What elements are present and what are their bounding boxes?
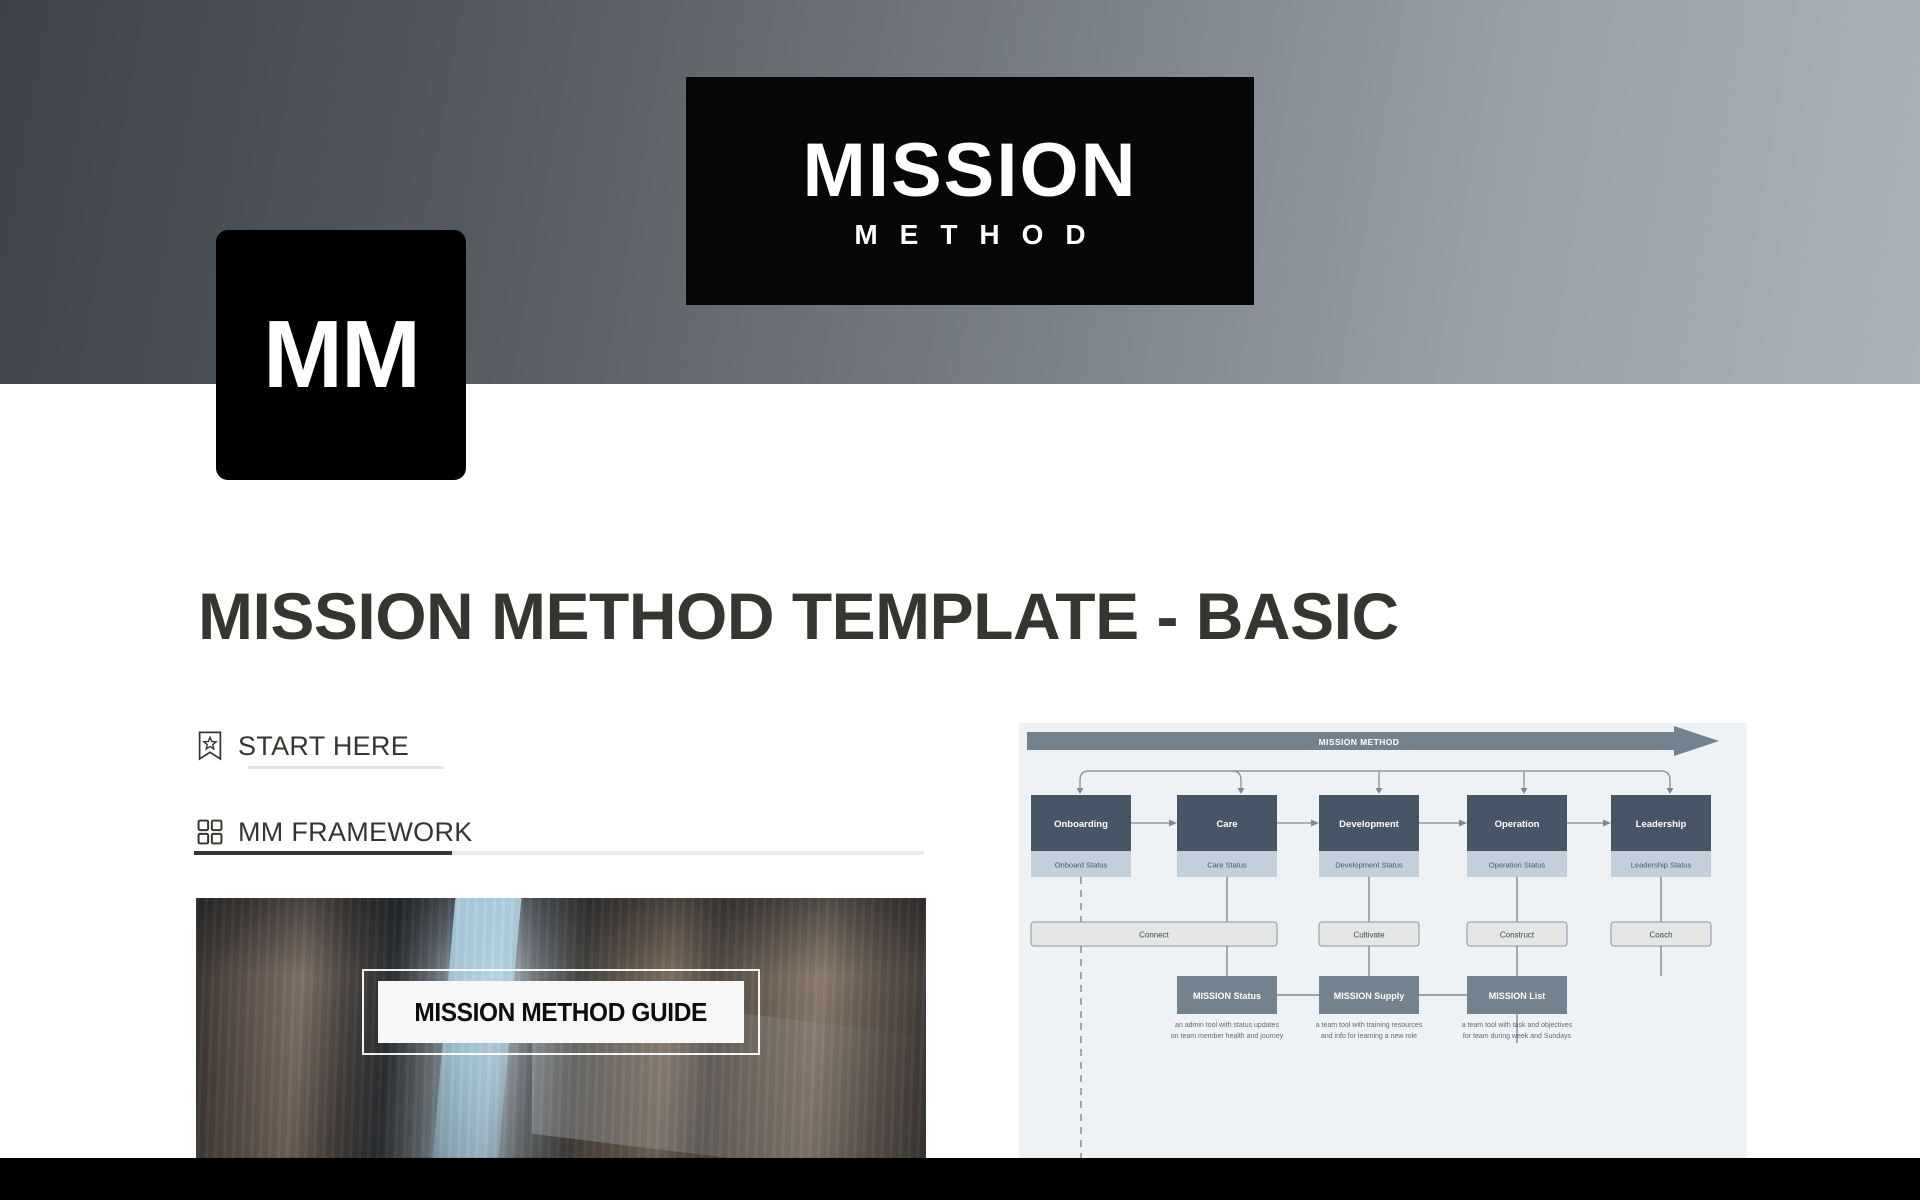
guide-caption-plate: MISSION METHOD GUIDE xyxy=(378,981,744,1043)
page-title[interactable]: MISSION METHOD TEMPLATE - BASIC xyxy=(198,578,1399,654)
stage-label: Development xyxy=(1339,819,1399,830)
start-here-underline xyxy=(248,766,444,769)
page-icon-text: MM xyxy=(263,300,419,410)
mission-method-logo: MISSION METHOD xyxy=(686,77,1254,305)
active-tab-indicator xyxy=(194,851,452,855)
logo-sub-text: METHOD xyxy=(832,221,1107,249)
tool-label: MISSION Supply xyxy=(1334,991,1405,1001)
guide-caption-text: MISSION METHOD GUIDE xyxy=(415,997,708,1028)
mission-method-banner: MISSION METHOD xyxy=(1027,726,1719,756)
mission-method-guide-card[interactable]: MISSION METHOD GUIDE xyxy=(196,898,926,1158)
c-label: Cultivate xyxy=(1353,931,1385,940)
framework-flowchart-svg: MISSION METHOD xyxy=(1019,723,1747,1160)
status-label: Care Status xyxy=(1207,861,1247,870)
tool-descriptions: an admin tool with status updates on tea… xyxy=(1171,1022,1573,1040)
tool-desc-line: a team tool with training resources xyxy=(1316,1022,1423,1029)
c-label: Coach xyxy=(1649,931,1672,940)
status-label: Onboard Status xyxy=(1055,861,1108,870)
c-row: Connect Cultivate Construct Coach xyxy=(1031,922,1711,946)
status-label: Operation Status xyxy=(1489,861,1546,870)
stage-label: Operation xyxy=(1495,819,1540,830)
tool-desc-line: and info for learning a new role xyxy=(1321,1033,1417,1040)
stage-label: Onboarding xyxy=(1054,819,1108,830)
feedback-arrowheads xyxy=(1077,788,1674,794)
logo-main-text: MISSION xyxy=(803,133,1138,209)
tool-desc-line: a team tool with task and objectives xyxy=(1462,1022,1573,1029)
banner-label: MISSION METHOD xyxy=(1319,737,1400,747)
tool-label: MISSION Status xyxy=(1193,991,1261,1001)
bottom-bar xyxy=(0,1158,1920,1200)
c-label: Construct xyxy=(1500,931,1535,940)
page-icon[interactable]: MM xyxy=(216,230,466,480)
left-column: START HERE MM FRAMEWORK xyxy=(196,718,926,860)
status-to-c-connectors xyxy=(1081,877,1661,922)
right-column: MISSION METHOD xyxy=(1019,723,1747,1160)
tool-desc-line: an admin tool with status updates xyxy=(1175,1022,1279,1029)
guide-caption-frame: MISSION METHOD GUIDE xyxy=(362,969,760,1055)
tool-desc-line: for team during week and Sundays xyxy=(1463,1033,1572,1040)
sidebar-item-label: MM FRAMEWORK xyxy=(238,817,473,848)
bookmark-star-icon xyxy=(196,731,224,761)
page-root: MISSION METHOD MM MISSION METHOD TEMPLAT… xyxy=(0,0,1920,1200)
c-label: Connect xyxy=(1139,931,1170,940)
stage-label: Leadership xyxy=(1636,819,1687,830)
status-label: Leadership Status xyxy=(1631,861,1692,870)
tab-bottom-border xyxy=(194,851,924,855)
grid-squares-icon xyxy=(196,817,224,847)
mm-framework-diagram[interactable]: MISSION METHOD xyxy=(1019,723,1747,1160)
sidebar-item-label: START HERE xyxy=(238,731,409,762)
tool-boxes-row: MISSION Status MISSION Supply MISSION Li… xyxy=(1177,976,1567,1014)
tool-desc-line: on team member health and journey xyxy=(1171,1033,1284,1040)
status-boxes-row: Onboard Status Care Status Development S… xyxy=(1031,851,1711,877)
tool-label: MISSION List xyxy=(1489,991,1546,1001)
feedback-arrows xyxy=(1080,771,1670,788)
status-label: Development Status xyxy=(1335,861,1403,870)
stage-label: Care xyxy=(1216,819,1237,830)
